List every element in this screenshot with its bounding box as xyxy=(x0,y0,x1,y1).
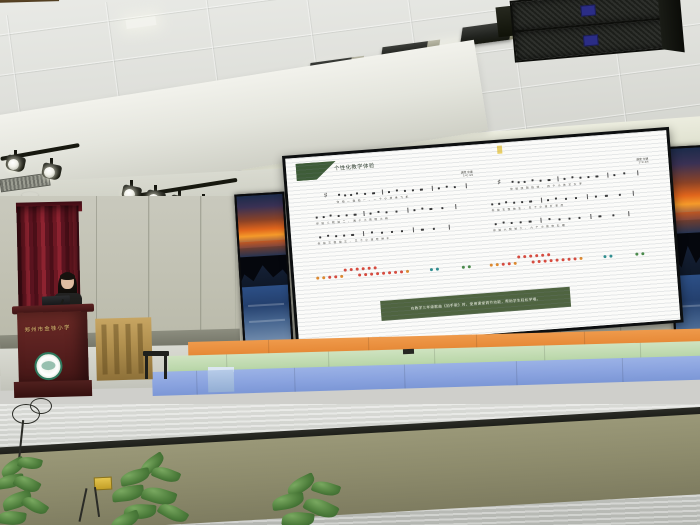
potted-plant xyxy=(0,455,66,525)
main-led-screen[interactable]: 个性化教学体验 速度 中速1=C 4/4 ♯ xyxy=(282,127,684,352)
notation-stave: 你 拍 六 我 拍 六 ， 六 个 小 孩 吃 石 榴 xyxy=(487,209,659,228)
color-marker-row xyxy=(314,263,486,286)
stage-stool xyxy=(143,351,169,379)
potted-plant xyxy=(268,478,354,525)
color-marker-row xyxy=(490,250,662,273)
blue-riser xyxy=(208,370,235,393)
slide-caption-text: 在教学三年级歌曲《拍手歌》时，使用课堂调节功能，帮助学生轻松学唱。 xyxy=(411,297,541,312)
auditorium-photo: 个性化教学体验 速度 中速1=C 4/4 ♯ xyxy=(0,0,700,525)
podium-base xyxy=(14,380,92,398)
slide-marker-dot xyxy=(497,145,503,153)
podium-body: 郑州市金桂小学 xyxy=(17,311,89,385)
podium-engraving: 郑州市金桂小学 xyxy=(24,322,82,334)
slide-corner-accent xyxy=(296,161,337,181)
podium: 郑州市金桂小学 xyxy=(16,305,90,401)
presenter-hair-front xyxy=(60,273,75,280)
slide-title: 个性化教学体验 xyxy=(334,161,375,172)
school-crest-emblem xyxy=(34,351,63,380)
notation-stave: 你 拍 五 我 拍 五 ， 五 个 小 孩 打 老 虎 xyxy=(485,189,657,208)
speaker-brand-badge xyxy=(583,34,599,46)
presentation-slide: 个性化教学体验 速度 中速1=C 4/4 ♯ xyxy=(285,130,680,348)
screen-surface: 个性化教学体验 速度 中速1=C 4/4 ♯ xyxy=(285,130,680,348)
side-display-left xyxy=(234,192,293,351)
notation-stave: 你 拍 二 我 拍 二 ， 两 个 小 孩 梳 小 辫 xyxy=(310,202,482,221)
potted-plant xyxy=(108,458,198,525)
notation-column-right: 速度 中速1=C 4/4 ♯ xyxy=(483,157,659,235)
cable-loop xyxy=(30,398,52,414)
notation-column-left: 速度 中速1=C 4/4 ♯ xyxy=(307,170,483,248)
notation-stave: 你 拍 三 我 拍 三 ， 三 个 小 孩 吃 饼 干 xyxy=(311,222,483,241)
stage-equipment-box xyxy=(403,349,414,354)
notation-meta-right: 速度 中速1=C 4/4 xyxy=(636,158,648,166)
slide-caption-bar: 在教学三年级歌曲《拍手歌》时，使用课堂调节功能，帮助学生轻松学唱。 xyxy=(380,287,571,321)
notation-meta-left: 速度 中速1=C 4/4 xyxy=(461,171,473,179)
